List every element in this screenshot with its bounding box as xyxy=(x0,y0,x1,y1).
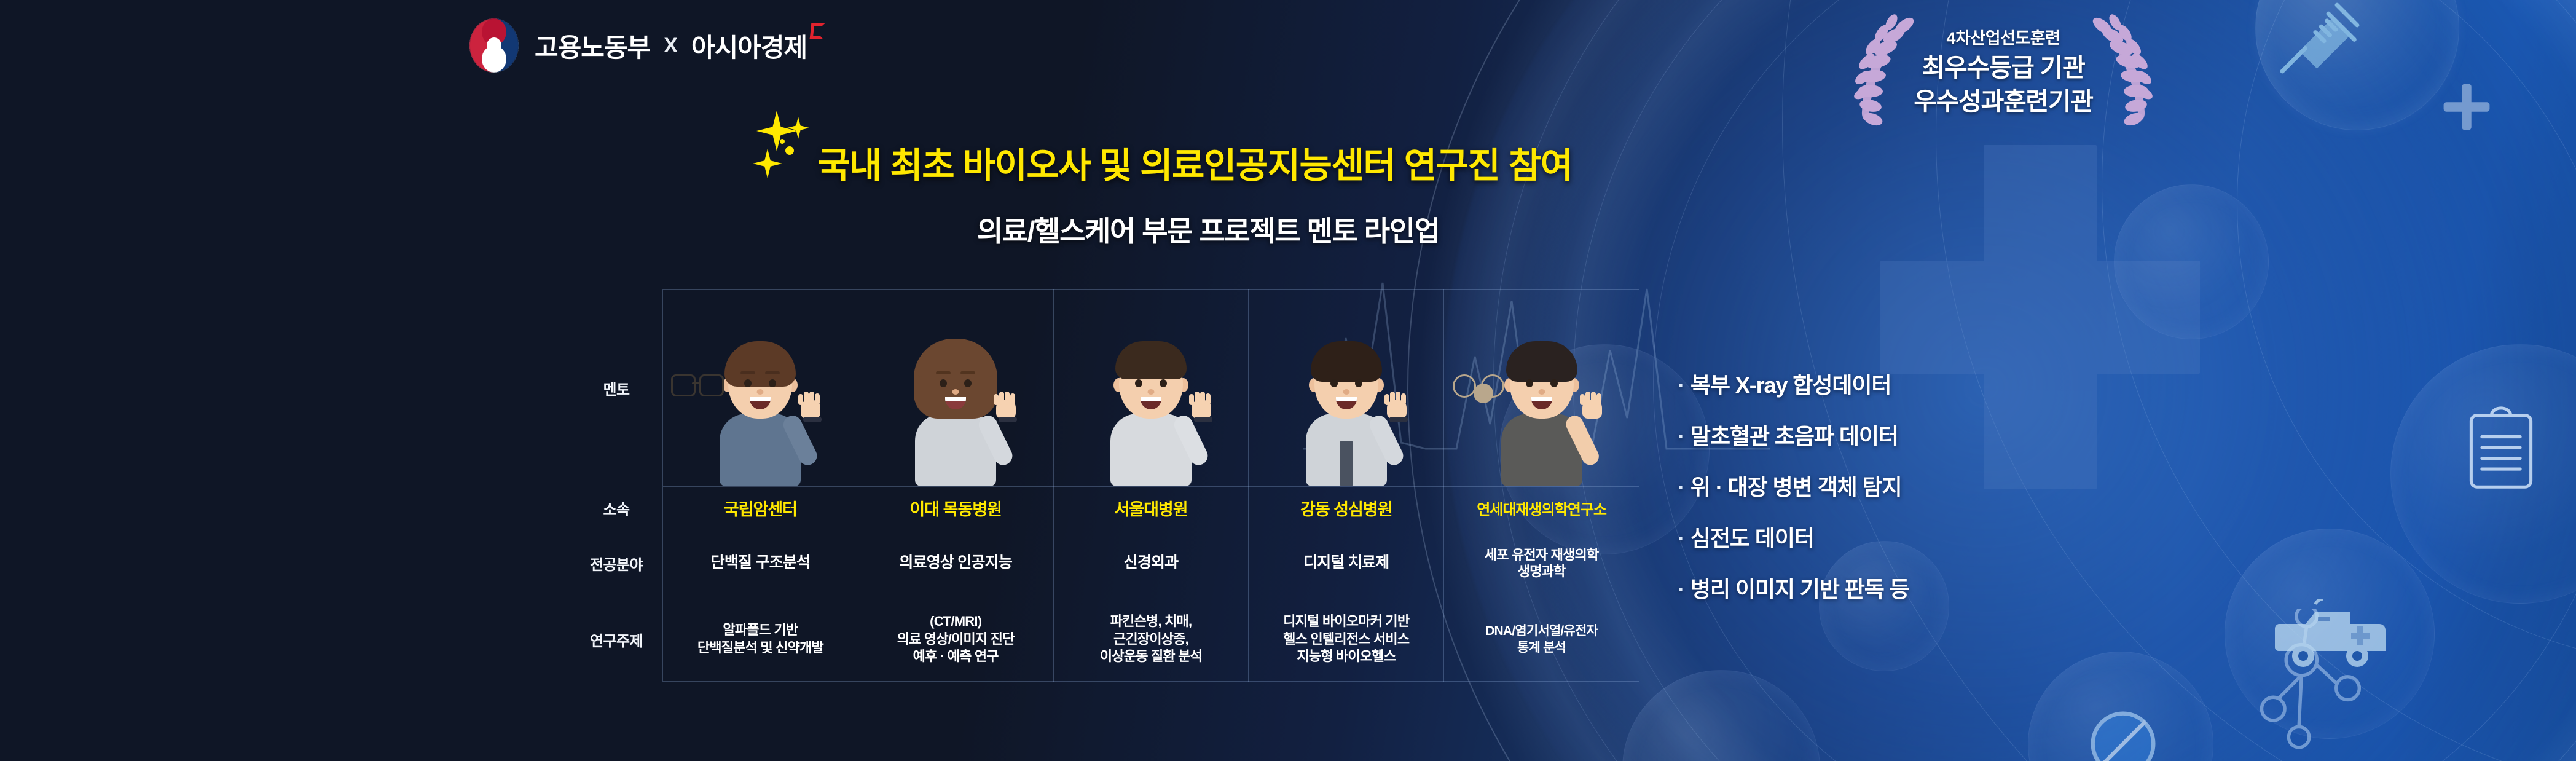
table-row-mentor: 멘토 xyxy=(570,290,1639,487)
bullet-dot-icon: · xyxy=(1678,424,1684,449)
field-cell: 세포 유전자 재생의학생명과학 xyxy=(1444,529,1639,597)
table-row-topic: 연구주제 알파폴드 기반단백질분석 및 신약개발 (CT/MRI)의료 영상/이… xyxy=(570,597,1639,682)
page-title: 국내 최초 바이오사 및 의료인공지능센터 연구진 참여 xyxy=(817,136,1573,188)
mentor-avatar-cell xyxy=(1249,290,1444,487)
star-icon-small xyxy=(787,117,809,139)
mentor-avatar-cell xyxy=(1444,290,1639,487)
field-cell: 신경외과 xyxy=(1053,529,1249,597)
header-logo[interactable]: 고용노동부 X 아시아경제 xyxy=(467,17,824,74)
star-icon-large xyxy=(756,111,797,151)
mentor-avatar-cell xyxy=(858,290,1053,487)
field-cell: 단백질 구조분석 xyxy=(663,529,858,597)
org-cell: 서울대병원 xyxy=(1053,487,1249,529)
row-label-topic: 연구주제 xyxy=(570,597,663,682)
org-cell: 연세대재생의학연구소 xyxy=(1444,487,1639,529)
table-row-field: 전공분야 단백질 구조분석 의료영상 인공지능 신경외과 디지털 치료제 세포 … xyxy=(570,529,1639,597)
bullet-dot-icon: · xyxy=(1678,526,1684,551)
bullet-dot-icon: · xyxy=(1678,475,1684,500)
plus-icon xyxy=(2440,80,2494,134)
syringe-icon xyxy=(2274,0,2366,80)
list-item-label: 위 · 대장 병변 객체 탐지 xyxy=(1690,475,1902,500)
background-bubble xyxy=(2114,184,2269,339)
clipboard-icon xyxy=(2464,406,2538,492)
avatar-female-long-hair xyxy=(891,333,1020,486)
topic-cell: 알파폴드 기반단백질분석 및 신약개발 xyxy=(663,597,858,682)
topic-cell: 파킨슨병, 치매,근긴장이상증,이상운동 질환 분석 xyxy=(1053,597,1249,682)
row-label-mentor: 멘토 xyxy=(570,290,663,487)
topic-cell: DNA/염기서열/유전자통계 분석 xyxy=(1444,597,1639,682)
award-line-1: 4차산업선도훈련 xyxy=(1856,25,2151,49)
mentor-avatar-cell xyxy=(663,290,858,487)
list-item-label: 말초혈관 초음파 데이터 xyxy=(1690,424,1898,449)
avatar-male-glasses-suit xyxy=(696,333,825,486)
award-line-2: 최우수등급 기관 xyxy=(1856,47,2151,84)
promo-banner: 고용노동부 X 아시아경제 xyxy=(0,0,2576,761)
field-cell: 디지털 치료제 xyxy=(1249,529,1444,597)
list-item-label: 복부 X-ray 합성데이터 xyxy=(1690,373,1891,398)
table-row-org: 소속 국립암센터 이대 목동병원 서울대병원 강동 성심병원 연세대재생의학연구… xyxy=(570,487,1639,529)
org-cell: 이대 목동병원 xyxy=(858,487,1053,529)
list-item-label: 병리 이미지 기반 판독 등 xyxy=(1690,577,1909,602)
logo-separator-x: X xyxy=(664,34,678,58)
avatar-male-short-hair xyxy=(1086,333,1215,486)
org-cell: 강동 성심병원 xyxy=(1249,487,1444,529)
award-line-3: 우수성과훈련기관 xyxy=(1856,81,2151,117)
ministry-name: 고용노동부 xyxy=(535,27,650,65)
avatar-male-dark-hair-tie xyxy=(1282,333,1411,486)
korean-government-emblem-icon xyxy=(467,17,521,74)
data-bullet-list: ·복부 X-ray 합성데이터 ·말초혈관 초음파 데이터 ·위 · 대장 병변… xyxy=(1678,368,1909,623)
mentor-table: 멘토 xyxy=(570,289,1639,682)
bullet-dot-icon: · xyxy=(1678,577,1684,602)
list-item: ·병리 이미지 기반 판독 등 xyxy=(1678,572,1909,604)
page-subtitle: 의료/헬스케어 부문 프로젝트 멘토 라인업 xyxy=(977,209,1440,250)
award-badge: 4차산업선도훈련 최우수등급 기관 우수성과훈련기관 xyxy=(1856,9,2151,132)
topic-cell: (CT/MRI)의료 영상/이미지 진단예후 · 예측 연구 xyxy=(858,597,1053,682)
list-item: ·말초혈관 초음파 데이터 xyxy=(1678,419,1909,451)
ambulance-icon xyxy=(2274,599,2390,673)
org-cell: 국립암센터 xyxy=(663,487,858,529)
field-cell: 의료영상 인공지능 xyxy=(858,529,1053,597)
list-item-label: 심전도 데이터 xyxy=(1690,526,1814,551)
bullet-dot-icon: · xyxy=(1678,373,1684,398)
partner-name: 아시아경제 xyxy=(691,27,807,65)
row-label-org: 소속 xyxy=(570,487,663,529)
list-item: ·위 · 대장 병변 객체 탐지 xyxy=(1678,470,1909,502)
list-item: ·복부 X-ray 합성데이터 xyxy=(1678,368,1909,400)
star-icon-medium xyxy=(753,149,782,178)
avatar-male-round-glasses xyxy=(1477,333,1606,486)
pill-icon xyxy=(2077,698,2169,761)
topic-cell: 디지털 바이오마커 기반헬스 인텔리전스 서비스지능형 바이오헬스 xyxy=(1249,597,1444,682)
list-item: ·심전도 데이터 xyxy=(1678,521,1909,553)
row-label-field: 전공분야 xyxy=(570,529,663,597)
sparkle-dot xyxy=(780,139,785,144)
asiae-bracket-icon xyxy=(810,23,825,39)
mentor-avatar-cell xyxy=(1053,290,1249,487)
sparkle-dot xyxy=(785,146,794,155)
